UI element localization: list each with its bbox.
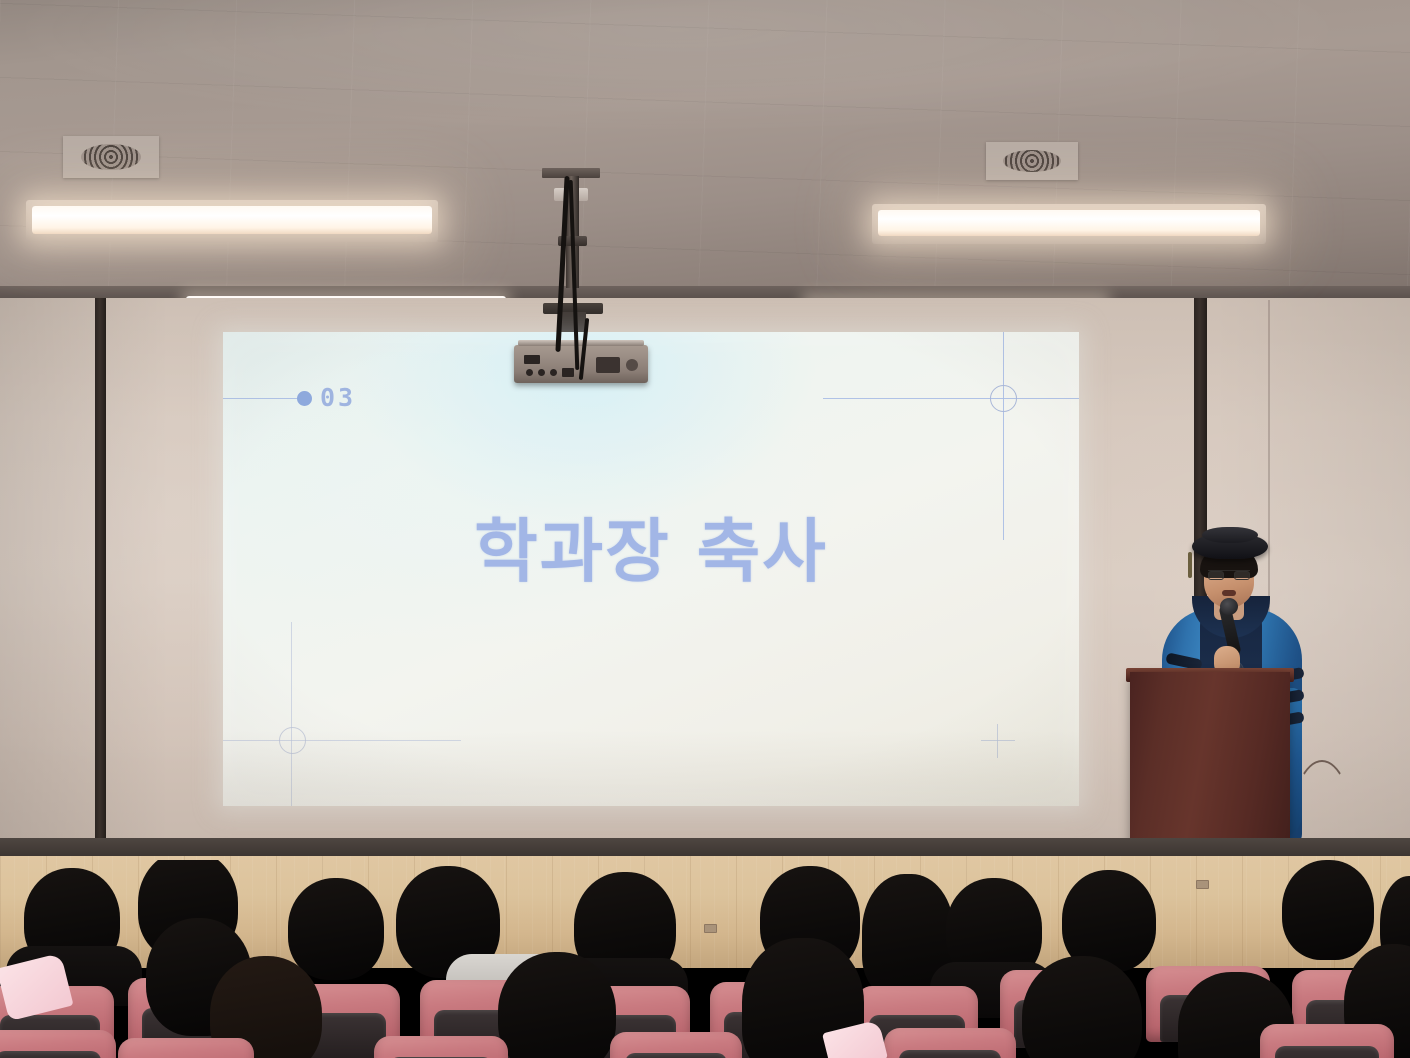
- slide-deco-line-topright-v: [1003, 332, 1004, 540]
- slide-deco-line-bottomleft-v: [291, 622, 292, 806]
- tam-tassel: [1188, 552, 1192, 578]
- stage-edge: [0, 838, 1410, 858]
- wall-pilaster-left: [95, 298, 106, 844]
- slide-deco-line-topright-h: [823, 398, 1079, 399]
- auditorium-seat: [610, 1032, 742, 1058]
- ceiling-texture: [0, 0, 1410, 300]
- slide-title: 학과장 축사: [223, 516, 1079, 588]
- auditorium-seat: [118, 1038, 254, 1058]
- audience-head: [1022, 956, 1142, 1058]
- ceiling: [0, 0, 1410, 300]
- slide-deco-line-bottomleft-h: [223, 740, 461, 741]
- audience-head: [1282, 860, 1374, 960]
- auditorium-seat: [0, 1030, 116, 1058]
- fluorescent-light-right: [878, 210, 1260, 236]
- slide-deco-line-topleft: [223, 398, 301, 399]
- slide-deco-ring-bottomleft: [279, 727, 306, 754]
- microphone-head: [1220, 598, 1238, 615]
- auditorium-seat: [1260, 1024, 1394, 1058]
- eyeglasses-icon: [1208, 570, 1250, 579]
- slide-deco-dot: [297, 391, 312, 406]
- speaker-mouth: [1222, 590, 1236, 596]
- air-vent-icon: [63, 136, 159, 178]
- air-vent-icon: [986, 142, 1078, 180]
- audience-seating: [0, 860, 1410, 1058]
- slide-deco-plus-bottomright: [981, 724, 1015, 758]
- audience-head: [288, 878, 384, 980]
- projector-top-rail: [518, 340, 644, 346]
- slide-deco-ring-topright: [990, 385, 1017, 412]
- fluorescent-light-left: [32, 206, 432, 234]
- auditorium-seat: [374, 1036, 508, 1058]
- slide-section-number: 03: [320, 385, 356, 410]
- doctoral-tam-crown: [1202, 527, 1258, 543]
- audience-head: [498, 952, 616, 1058]
- auditorium-seat: [884, 1028, 1016, 1058]
- auditorium-scene: 03 학과장 축사: [0, 0, 1410, 1058]
